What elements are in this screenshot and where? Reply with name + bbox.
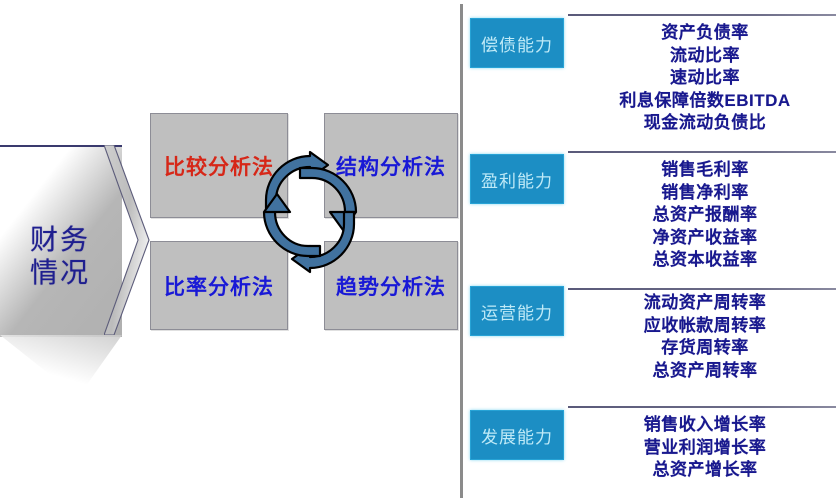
list-item: 销售净利率 [576,182,834,205]
category-badge-label-profitability: 盈利能力 [481,167,553,192]
vertical-spine-line [460,4,463,498]
category-badge-label-operating: 运营能力 [481,299,553,324]
list-item: 速动比率 [576,67,834,90]
category-rule-profitability [568,151,836,153]
list-item: 资产负债率 [576,22,834,45]
list-item: 现金流动负债比 [576,112,834,135]
category-badge-solvency[interactable]: 偿债能力 [470,18,564,68]
list-item: 销售毛利率 [576,159,834,182]
list-item: 总资本收益率 [576,249,834,272]
list-item: 存货周转率 [576,337,834,360]
slide-canvas: 财务 情况 比较分析法 结构分析法 比率分析法 趋势分析法 偿债能力 [0,0,836,502]
category-rule-operating [568,288,836,290]
list-item: 总资产增长率 [576,459,834,482]
category-badge-label-growth: 发展能力 [481,423,553,448]
category-badge-label-solvency: 偿债能力 [481,31,553,56]
source-label-line-2: 情况 [8,256,112,289]
list-item: 总资产报酬率 [576,204,834,227]
category-items-profitability: 销售毛利率 销售净利率 总资产报酬率 净资产收益率 总资本收益率 [576,159,834,272]
list-item: 营业利润增长率 [576,437,834,460]
category-badge-operating[interactable]: 运营能力 [470,286,564,336]
chevron-reflection [0,335,122,397]
category-rule-growth [568,406,836,408]
category-items-operating: 流动资产周转率 应收帐款周转率 存货周转率 总资产周转率 [576,292,834,382]
source-label-line-1: 财务 [8,223,112,256]
list-item: 销售收入增长率 [576,414,834,437]
category-badge-profitability[interactable]: 盈利能力 [470,154,564,204]
list-item: 净资产收益率 [576,227,834,250]
list-item: 利息保障倍数EBITDA [576,90,834,113]
list-item: 流动比率 [576,45,834,68]
category-items-solvency: 资产负债率 流动比率 速动比率 利息保障倍数EBITDA 现金流动负债比 [576,22,834,135]
circular-arrows-icon [256,148,364,276]
category-rule-solvency [568,14,836,16]
financial-situation-chevron: 财务 情况 [0,145,150,335]
source-label: 财务 情况 [8,223,112,289]
list-item: 应收帐款周转率 [576,315,834,338]
list-item: 流动资产周转率 [576,292,834,315]
list-item: 总资产周转率 [576,360,834,383]
category-items-growth: 销售收入增长率 营业利润增长率 总资产增长率 [576,414,834,482]
category-badge-growth[interactable]: 发展能力 [470,410,564,460]
